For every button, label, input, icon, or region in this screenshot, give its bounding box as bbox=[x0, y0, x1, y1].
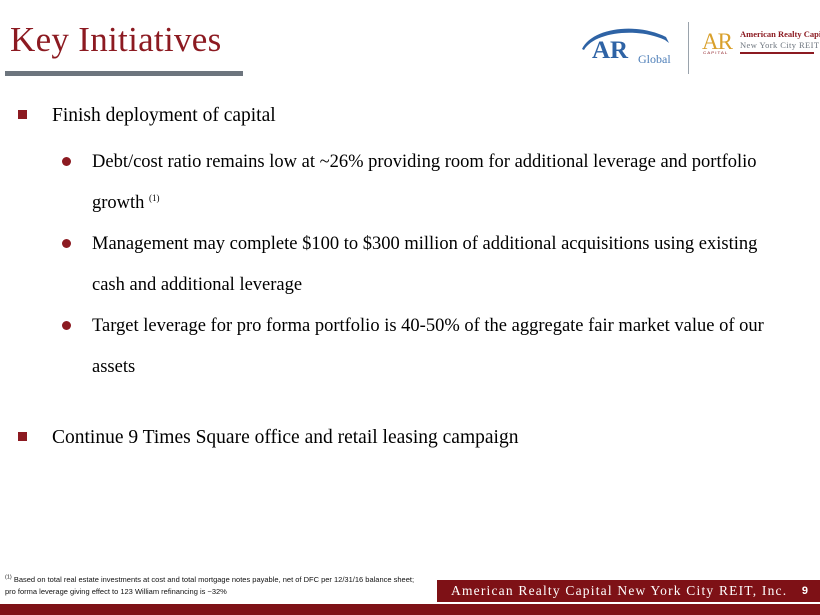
logo-group: AR Global AR CAPITAL American Realty Cap… bbox=[578, 22, 814, 74]
list-item-text: Target leverage for pro forma portfolio … bbox=[92, 306, 794, 388]
list-item: Continue 9 Times Square office and retai… bbox=[0, 418, 820, 458]
list-item: Finish deployment of capital bbox=[0, 96, 820, 136]
round-bullet-icon bbox=[62, 239, 71, 248]
footnote-text: Based on total real estate investments a… bbox=[5, 575, 414, 596]
page-title: Key Initiatives bbox=[10, 19, 222, 61]
nyc-reit-mark-icon: AR CAPITAL bbox=[702, 29, 736, 61]
title-underline-rule bbox=[5, 71, 243, 76]
footnote-marker: (1) bbox=[5, 575, 12, 581]
list-item-body: Debt/cost ratio remains low at ~26% prov… bbox=[92, 152, 757, 213]
list-item-text: Debt/cost ratio remains low at ~26% prov… bbox=[92, 142, 794, 224]
list-item-text: Management may complete $100 to $300 mil… bbox=[92, 224, 794, 306]
round-bullet-icon bbox=[62, 321, 71, 330]
nyc-reit-mark-subtext: CAPITAL bbox=[703, 50, 728, 55]
ar-global-logo: AR Global bbox=[578, 24, 678, 70]
footer-banner: American Realty Capital New York City RE… bbox=[437, 580, 820, 602]
nyc-reit-logo: AR CAPITAL American Realty Capital New Y… bbox=[702, 27, 814, 69]
page-number: 9 bbox=[802, 585, 808, 597]
logo-divider bbox=[688, 22, 689, 74]
square-bullet-icon bbox=[18, 110, 27, 119]
nyc-reit-line1: American Realty Capital bbox=[740, 29, 820, 39]
list-item: Target leverage for pro forma portfolio … bbox=[0, 306, 820, 388]
square-bullet-icon bbox=[18, 432, 27, 441]
footnote-marker: (1) bbox=[149, 193, 160, 203]
bottom-accent-bar bbox=[0, 604, 820, 615]
list-item: Debt/cost ratio remains low at ~26% prov… bbox=[0, 142, 820, 224]
round-bullet-icon bbox=[62, 157, 71, 166]
bullet-spacer bbox=[0, 388, 820, 418]
footnote: (1) Based on total real estate investmen… bbox=[5, 574, 425, 597]
ar-global-mark: AR bbox=[592, 37, 628, 65]
nyc-reit-line2: New York City REIT bbox=[740, 40, 819, 50]
bullet-list: Finish deployment of capital Debt/cost r… bbox=[0, 96, 820, 464]
list-item: Management may complete $100 to $300 mil… bbox=[0, 224, 820, 306]
footer-company-name: American Realty Capital New York City RE… bbox=[451, 583, 787, 599]
nyc-reit-underline bbox=[740, 52, 814, 54]
list-item-text: Continue 9 Times Square office and retai… bbox=[52, 418, 820, 458]
list-item-text: Finish deployment of capital bbox=[52, 96, 820, 136]
ar-global-word: Global bbox=[638, 52, 671, 67]
